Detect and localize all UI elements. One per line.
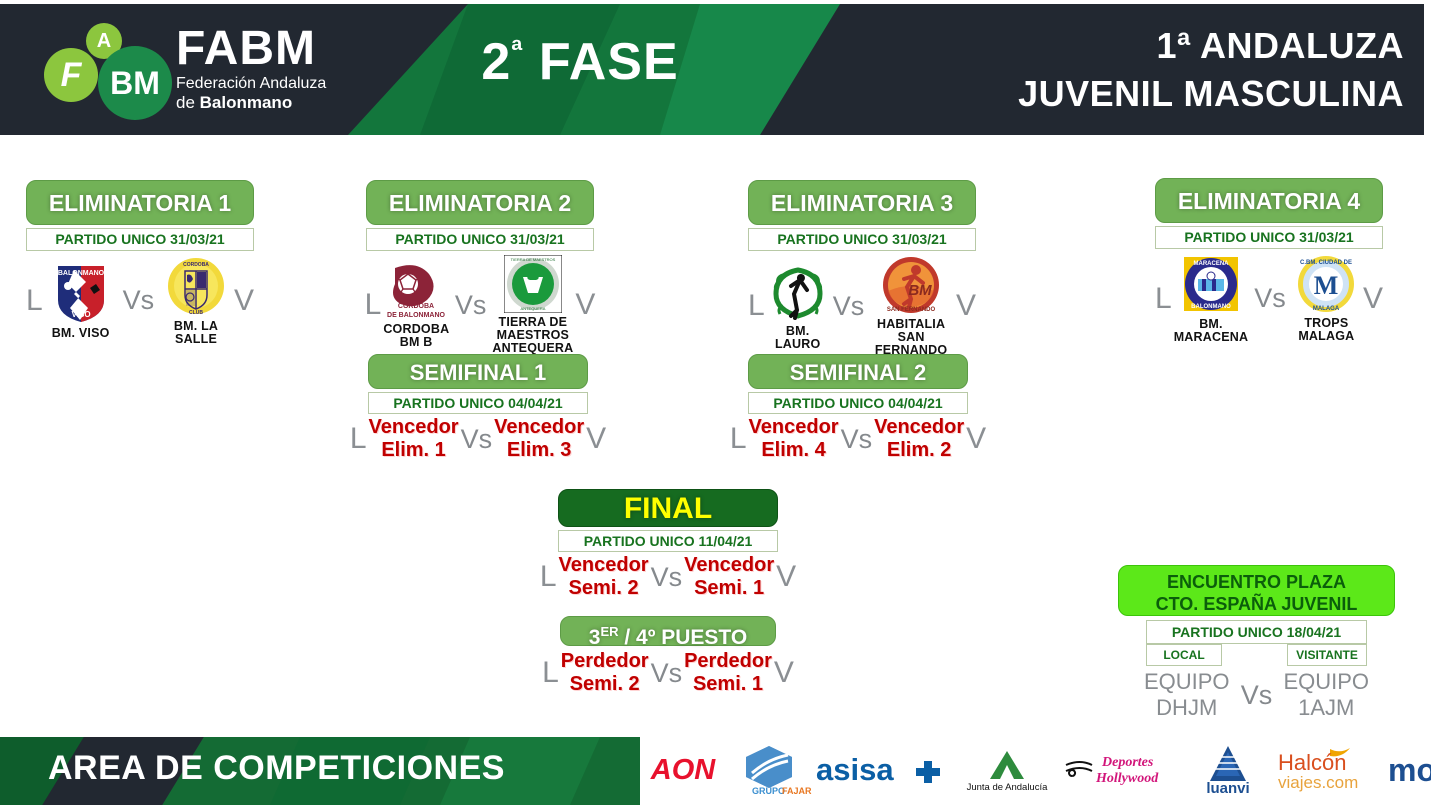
svg-text:luanvi: luanvi xyxy=(1206,780,1249,795)
fabm-logo-mark-icon: F A BM xyxy=(40,22,170,118)
final-away-line1: Vencedor xyxy=(684,554,774,577)
third-place-num: 3 xyxy=(589,626,601,649)
svg-text:AON: AON xyxy=(650,754,717,786)
aon-logo-icon: AON xyxy=(640,752,726,786)
round-semifinal-2: SEMIFINAL 2 PARTIDO UNICO 04/04/21 L Ven… xyxy=(748,354,968,462)
final-local-label: L xyxy=(540,560,557,594)
eliminatoria-4-title: ELIMINATORIA 4 xyxy=(1155,178,1383,223)
footer-title: AREA DE COMPETICIONES xyxy=(48,749,505,788)
sponsor-strip: AON GRUPO FAJARDO asisa Junta de Andaluc… xyxy=(640,737,1431,805)
third-place-vs: Vs xyxy=(651,658,683,689)
sponsor-luanvi: luanvi xyxy=(1182,743,1274,800)
svg-text:MALAGA: MALAGA xyxy=(1313,306,1340,312)
eliminatoria-3-home-name: BM. LAURO xyxy=(767,325,829,351)
final-visitor-label: V xyxy=(776,560,796,594)
semifinal-2-vs: Vs xyxy=(841,424,873,455)
fabm-logo: F A BM FABM Federación Andaluza de Balon… xyxy=(40,20,340,120)
semifinal-2-date: PARTIDO UNICO 04/04/21 xyxy=(748,392,968,414)
encuentro-plaza-visitor-label: VISITANTE xyxy=(1287,644,1367,666)
eliminatoria-4-home-name: BM. MARACENA xyxy=(1174,318,1249,344)
logo-circle-bm-icon: BM xyxy=(98,46,172,120)
third-place-home-line2: Semi. 2 xyxy=(561,673,649,696)
eliminatoria-4-local-label: L xyxy=(1155,282,1172,316)
halcon-viajes-logo-icon: Halcón viajes.com xyxy=(1274,745,1386,793)
encuentro-plaza-away-line1: EQUIPO xyxy=(1278,669,1374,695)
bm-lauro-crest-icon xyxy=(767,262,829,322)
semifinal-2-local-label: L xyxy=(730,422,747,456)
competition-line1: 1ª ANDALUZA xyxy=(1018,22,1404,70)
semifinal-1-home-line2: Elim. 1 xyxy=(369,439,459,462)
semifinal-1-visitor-label: V xyxy=(586,422,606,456)
svg-text:M: M xyxy=(1314,271,1339,300)
page-header: F A BM FABM Federación Andaluza de Balon… xyxy=(0,4,1424,135)
final-vs: Vs xyxy=(651,562,683,593)
phase-ordinal: ª xyxy=(511,35,523,68)
eliminatoria-3-date: PARTIDO UNICO 31/03/21 xyxy=(748,228,976,251)
svg-text:VISO: VISO xyxy=(71,310,90,319)
fabm-line2-pre: de xyxy=(176,93,200,112)
semifinal-2-home-line1: Vencedor xyxy=(749,416,839,439)
encuentro-plaza-home-line2: DHJM xyxy=(1139,695,1235,721)
eliminatoria-1-visitor-label: V xyxy=(234,284,254,318)
eliminatoria-2-local-label: L xyxy=(365,288,382,322)
semifinal-2-home-line2: Elim. 4 xyxy=(749,439,839,462)
eliminatoria-1-away-team: CORDOBA CLUB BM. LA SALLE xyxy=(160,255,232,346)
svg-text:SAN FERNANDO: SAN FERNANDO xyxy=(887,307,936,313)
fabm-line2: de Balonmano xyxy=(176,93,326,113)
final-home: Vencedor Semi. 2 xyxy=(559,554,649,600)
encuentro-plaza-away: EQUIPO 1AJM xyxy=(1278,669,1374,721)
bm-viso-crest-icon: BALONMANO VISO xyxy=(50,262,112,324)
bm-maracena-crest-icon: MARACENA BALONMANO xyxy=(1180,253,1242,315)
svg-text:ANTEQUERA: ANTEQUERA xyxy=(520,306,545,311)
eliminatoria-1-title: ELIMINATORIA 1 xyxy=(26,180,254,225)
final-away: Vencedor Semi. 1 xyxy=(684,554,774,600)
eliminatoria-1-away-name: BM. LA SALLE xyxy=(160,320,232,346)
semifinal-1-date: PARTIDO UNICO 04/04/21 xyxy=(368,392,588,414)
eliminatoria-1-vs: Vs xyxy=(123,285,155,316)
final-away-line2: Semi. 1 xyxy=(684,577,774,600)
phase-word: FASE xyxy=(523,33,678,91)
third-place-rest: / 4º PUESTO xyxy=(619,626,748,649)
semifinal-2-home: Vencedor Elim. 4 xyxy=(749,416,839,462)
svg-text:Halcón: Halcón xyxy=(1278,750,1346,775)
semifinal-2-visitor-label: V xyxy=(966,422,986,456)
encuentro-plaza-home-line1: EQUIPO xyxy=(1139,669,1235,695)
svg-text:asisa: asisa xyxy=(816,752,894,786)
final-home-line2: Semi. 2 xyxy=(559,577,649,600)
eliminatoria-3-vs: Vs xyxy=(833,291,865,322)
svg-text:BALONMANO: BALONMANO xyxy=(1191,304,1231,310)
sponsor-halcon-viajes: Halcón viajes.com xyxy=(1274,745,1386,798)
svg-text:BALONMANO: BALONMANO xyxy=(57,270,104,277)
semifinal-1-away-line2: Elim. 3 xyxy=(494,439,584,462)
trops-malaga-crest-icon: M C.BM. CIUDAD DE MALAGA xyxy=(1296,254,1356,314)
eliminatoria-1-local-label: L xyxy=(26,284,43,318)
third-place-visitor-label: V xyxy=(774,656,794,690)
round-final: FINAL PARTIDO UNICO 11/04/21 L Vencedor … xyxy=(558,489,778,600)
final-date: PARTIDO UNICO 11/04/21 xyxy=(558,530,778,552)
eliminatoria-4-away-name: TROPS MALAGA xyxy=(1292,317,1361,343)
logo-letter-bm: BM xyxy=(98,46,172,120)
final-title: FINAL xyxy=(558,489,778,527)
encuentro-plaza-date: PARTIDO UNICO 18/04/21 xyxy=(1146,620,1367,644)
fabm-line1: Federación Andaluza xyxy=(176,74,326,93)
svg-text:Hollywood: Hollywood xyxy=(1095,771,1159,786)
bm-la-salle-crest-icon: CORDOBA CLUB xyxy=(165,255,227,317)
round-eliminatoria-3: ELIMINATORIA 3 PARTIDO UNICO 31/03/21 L … xyxy=(748,180,976,357)
round-semifinal-1: SEMIFINAL 1 PARTIDO UNICO 04/04/21 L Ven… xyxy=(368,354,588,462)
eliminatoria-3-home-team: BM. LAURO xyxy=(767,262,829,351)
molten-logo-icon: molten ® xyxy=(1386,751,1431,787)
deportes-hollywood-logo-icon: Deportes Hollywood xyxy=(1062,749,1182,789)
svg-text:BM: BM xyxy=(908,282,932,299)
fabm-acronym: FABM xyxy=(176,24,326,74)
eliminatoria-1-home-name: BM. VISO xyxy=(45,327,117,340)
sponsor-asisa: asisa xyxy=(812,752,952,791)
svg-text:CORDOBA: CORDOBA xyxy=(398,303,434,310)
encuentro-plaza-local-label: LOCAL xyxy=(1146,644,1222,666)
sponsor-molten: molten ® xyxy=(1386,751,1431,792)
eliminatoria-1-home-team: BALONMANO VISO BM. VISO xyxy=(45,262,117,340)
encuentro-plaza-block: ENCUENTRO PLAZA CTO. ESPAÑA JUVENIL PART… xyxy=(1118,565,1395,721)
round-eliminatoria-1: ELIMINATORIA 1 PARTIDO UNICO 31/03/21 L … xyxy=(26,180,254,346)
eliminatoria-2-home-team: CORDOBA DE BALONMANO CORDOBA BM B xyxy=(383,262,449,349)
third-place-away-line1: Perdedor xyxy=(684,650,772,673)
svg-text:viajes.com: viajes.com xyxy=(1278,773,1358,792)
semifinal-1-local-label: L xyxy=(350,422,367,456)
semifinal-1-vs: Vs xyxy=(461,424,493,455)
luanvi-logo-icon: luanvi xyxy=(1182,743,1274,795)
svg-text:CLUB: CLUB xyxy=(189,310,203,316)
competition-title: 1ª ANDALUZA JUVENIL MASCULINA xyxy=(1018,22,1404,118)
fabm-line2-bold: Balonmano xyxy=(200,93,293,112)
encuentro-plaza-home: EQUIPO DHJM xyxy=(1139,669,1235,721)
encuentro-plaza-title-line2: CTO. ESPAÑA JUVENIL xyxy=(1119,593,1394,615)
junta-de-andalucia-logo-icon: Junta de Andalucía xyxy=(952,745,1062,793)
eliminatoria-2-title: ELIMINATORIA 2 xyxy=(366,180,594,225)
fabm-logo-text: FABM Federación Andaluza de Balonmano xyxy=(176,24,326,113)
round-eliminatoria-2: ELIMINATORIA 2 PARTIDO UNICO 31/03/21 L … xyxy=(366,180,594,355)
svg-text:DE BALONMANO: DE BALONMANO xyxy=(387,312,445,319)
tournament-bracket-page: F A BM FABM Federación Andaluza de Balon… xyxy=(0,0,1431,809)
third-place-sup: ER xyxy=(600,624,618,639)
eliminatoria-4-date: PARTIDO UNICO 31/03/21 xyxy=(1155,226,1383,249)
semifinal-1-home: Vencedor Elim. 1 xyxy=(369,416,459,462)
semifinal-2-title: SEMIFINAL 2 xyxy=(748,354,968,389)
phase-number: 2 xyxy=(481,33,511,91)
semifinal-1-home-line1: Vencedor xyxy=(369,416,459,439)
third-place-title: 3ER / 4º PUESTO xyxy=(560,616,776,646)
third-place-local-label: L xyxy=(542,656,559,690)
svg-text:CORDOBA: CORDOBA xyxy=(183,262,209,268)
semifinal-2-away-line2: Elim. 2 xyxy=(874,439,964,462)
sponsor-aon: AON xyxy=(640,752,726,791)
eliminatoria-2-home-name: CORDOBA BM B xyxy=(383,323,449,349)
encuentro-plaza-title-line1: ENCUENTRO PLAZA xyxy=(1119,571,1394,593)
competition-line2: JUVENIL MASCULINA xyxy=(1018,70,1404,118)
footer-banner: AREA DE COMPETICIONES xyxy=(0,737,640,805)
encuentro-plaza-vs: Vs xyxy=(1241,680,1273,711)
svg-text:Deportes: Deportes xyxy=(1101,755,1154,770)
eliminatoria-3-away-team: BM SAN FERNANDO HABITALIA SAN FERNANDO xyxy=(868,255,954,357)
eliminatoria-3-visitor-label: V xyxy=(956,289,976,323)
eliminatoria-4-vs: Vs xyxy=(1254,283,1286,314)
sponsor-deportes-hollywood: Deportes Hollywood xyxy=(1062,749,1182,794)
eliminatoria-2-vs: Vs xyxy=(455,290,487,321)
svg-text:Junta de Andalucía: Junta de Andalucía xyxy=(967,782,1049,793)
habitalia-san-fernando-crest-icon: BM SAN FERNANDO xyxy=(880,255,942,315)
semifinal-1-away: Vencedor Elim. 3 xyxy=(494,416,584,462)
encuentro-plaza-title: ENCUENTRO PLAZA CTO. ESPAÑA JUVENIL xyxy=(1118,565,1395,616)
round-eliminatoria-4: ELIMINATORIA 4 PARTIDO UNICO 31/03/21 L … xyxy=(1155,178,1383,344)
sponsor-grupo-fajardo: GRUPO FAJARDO xyxy=(726,743,812,800)
third-place-away: Perdedor Semi. 1 xyxy=(684,650,772,696)
svg-text:FAJARDO: FAJARDO xyxy=(782,786,812,795)
eliminatoria-3-local-label: L xyxy=(748,289,765,323)
encuentro-plaza-away-line2: 1AJM xyxy=(1278,695,1374,721)
asisa-logo-icon: asisa xyxy=(812,752,952,786)
svg-text:GRUPO: GRUPO xyxy=(752,786,785,795)
third-place-home-line1: Perdedor xyxy=(561,650,649,673)
third-place-home: Perdedor Semi. 2 xyxy=(561,650,649,696)
grupo-fajardo-logo-icon: GRUPO FAJARDO xyxy=(726,743,812,795)
eliminatoria-3-away-name: HABITALIA SAN FERNANDO xyxy=(868,318,954,357)
svg-text:TIERRA DE MAESTROS: TIERRA DE MAESTROS xyxy=(511,257,556,262)
semifinal-2-away: Vencedor Elim. 2 xyxy=(874,416,964,462)
round-third-place: 3ER / 4º PUESTO L Perdedor Semi. 2 Vs Pe… xyxy=(560,616,776,696)
eliminatoria-2-visitor-label: V xyxy=(575,288,595,322)
third-place-away-line2: Semi. 1 xyxy=(684,673,772,696)
eliminatoria-4-visitor-label: V xyxy=(1363,282,1383,316)
semifinal-1-title: SEMIFINAL 1 xyxy=(368,354,588,389)
phase-title: 2ª FASE xyxy=(430,32,730,92)
sponsor-junta-de-andalucia: Junta de Andalucía xyxy=(952,745,1062,798)
semifinal-1-away-line1: Vencedor xyxy=(494,416,584,439)
eliminatoria-3-title: ELIMINATORIA 3 xyxy=(748,180,976,225)
svg-text:MARACENA: MARACENA xyxy=(1193,261,1229,267)
cordoba-bm-crest-icon: CORDOBA DE BALONMANO xyxy=(385,262,447,320)
svg-text:C.BM. CIUDAD DE: C.BM. CIUDAD DE xyxy=(1300,260,1352,266)
eliminatoria-2-away-team: TIERRA DE MAESTROS ANTEQUERA TIERRA DE M… xyxy=(492,255,573,355)
eliminatoria-2-away-name: TIERRA DE MAESTROS ANTEQUERA xyxy=(492,316,573,355)
eliminatoria-2-date: PARTIDO UNICO 31/03/21 xyxy=(366,228,594,251)
svg-text:molten: molten xyxy=(1388,752,1431,787)
eliminatoria-4-away-team: M C.BM. CIUDAD DE MALAGA TROPS MALAGA xyxy=(1292,254,1361,343)
semifinal-2-away-line1: Vencedor xyxy=(874,416,964,439)
eliminatoria-4-home-team: MARACENA BALONMANO BM. MARACENA xyxy=(1174,253,1249,344)
tierra-de-maestros-crest-icon: TIERRA DE MAESTROS ANTEQUERA xyxy=(504,255,562,313)
eliminatoria-1-date: PARTIDO UNICO 31/03/21 xyxy=(26,228,254,251)
final-home-line1: Vencedor xyxy=(559,554,649,577)
